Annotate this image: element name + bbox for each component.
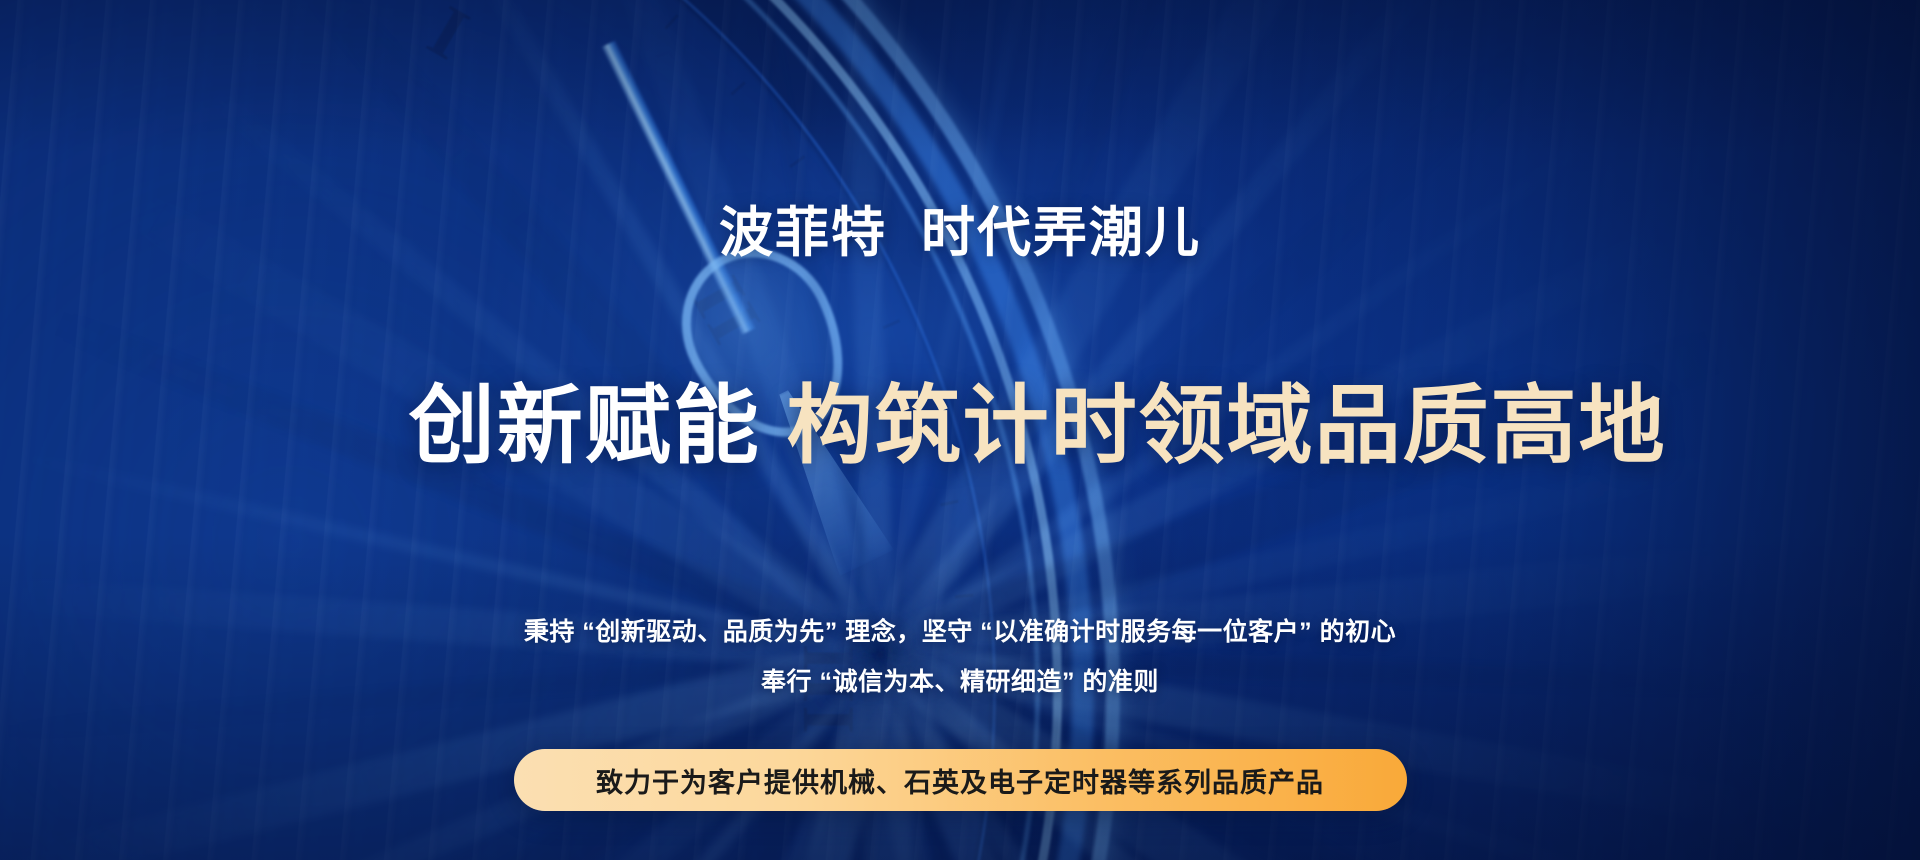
subtitle-line-1: 秉持 “创新驱动、品质为先” 理念，坚守 “以准确计时服务每一位客户” 的初心 <box>524 607 1396 657</box>
banner-eyebrow: 波菲特 时代弄潮儿 <box>719 206 1201 260</box>
hero-banner: XIIIIIIIIIVVVIVIIVIIIIXXXI 波菲特 时代弄潮儿 创新赋… <box>0 0 1920 860</box>
subtitle-line-2: 奉行 “诚信为本、精研细造” 的准则 <box>524 657 1396 707</box>
headline-part-a: 创新赋能 <box>409 378 761 474</box>
banner-subtitle: 秉持 “创新驱动、品质为先” 理念，坚守 “以准确计时服务每一位客户” 的初心 … <box>524 607 1396 707</box>
banner-headline: 创新赋能 构筑计时领域品质高地 <box>253 290 1666 563</box>
tagline-pill-label: 致力于为客户提供机械、石英及电子定时器等系列品质产品 <box>596 761 1324 800</box>
tagline-pill[interactable]: 致力于为客户提供机械、石英及电子定时器等系列品质产品 <box>514 749 1407 811</box>
banner-content: 波菲特 时代弄潮儿 创新赋能 构筑计时领域品质高地 秉持 “创新驱动、品质为先”… <box>0 0 1920 860</box>
headline-part-b: 构筑计时领域品质高地 <box>761 378 1667 474</box>
